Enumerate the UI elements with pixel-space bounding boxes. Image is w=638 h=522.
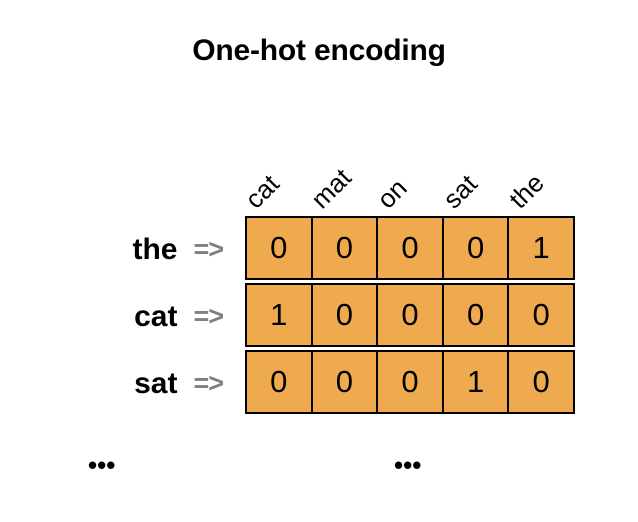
row-label-1: cat => [0,283,235,350]
matrix-cell: 1 [444,352,510,412]
column-header-1: mat [311,120,377,215]
column-header-label: cat [239,169,285,215]
column-header-label: sat [437,169,483,215]
matrix-cell: 0 [378,218,444,278]
row-label-0: the => [0,216,235,283]
matrix-cell: 0 [378,352,444,412]
row-word: the [132,233,177,267]
table-row: 0 0 0 0 1 [245,216,575,280]
matrix-cell: 0 [378,285,444,345]
rows-ellipsis: ••• [88,452,115,478]
matrix-cell: 0 [247,218,313,278]
table-row: 0 0 0 1 0 [245,350,575,414]
matrix-cell: 0 [444,218,510,278]
matrix-cell: 0 [247,352,313,412]
matrix-ellipsis: ••• [394,452,421,478]
column-header-label: the [503,168,550,215]
column-header-0: cat [245,120,311,215]
row-label-2: sat => [0,350,235,417]
matrix-cell: 0 [509,285,573,345]
column-header-3: sat [443,120,509,215]
matrix-cell: 0 [313,218,379,278]
matrix-cell: 0 [444,285,510,345]
matrix-cell: 1 [247,285,313,345]
arrow-icon: => [193,368,223,399]
column-header-4: the [509,120,575,215]
row-word: cat [134,300,177,334]
table-row: 1 0 0 0 0 [245,283,575,347]
matrix-cell: 0 [509,352,573,412]
matrix-cell: 0 [313,285,379,345]
one-hot-matrix: 0 0 0 0 1 1 0 0 0 0 0 0 0 1 0 [245,216,575,414]
row-word: sat [134,367,177,401]
matrix-cell: 0 [313,352,379,412]
column-header-label: mat [305,162,358,215]
arrow-icon: => [193,301,223,332]
matrix-cell: 1 [509,218,573,278]
column-header-row: cat mat on sat the [245,120,575,215]
arrow-icon: => [193,234,223,265]
row-label-column: the => cat => sat => [0,216,235,421]
column-header-label: on [371,173,413,215]
page-title: One-hot encoding [0,34,638,68]
column-header-2: on [377,120,443,215]
one-hot-encoding-figure: One-hot encoding cat mat on sat the the … [0,0,638,522]
